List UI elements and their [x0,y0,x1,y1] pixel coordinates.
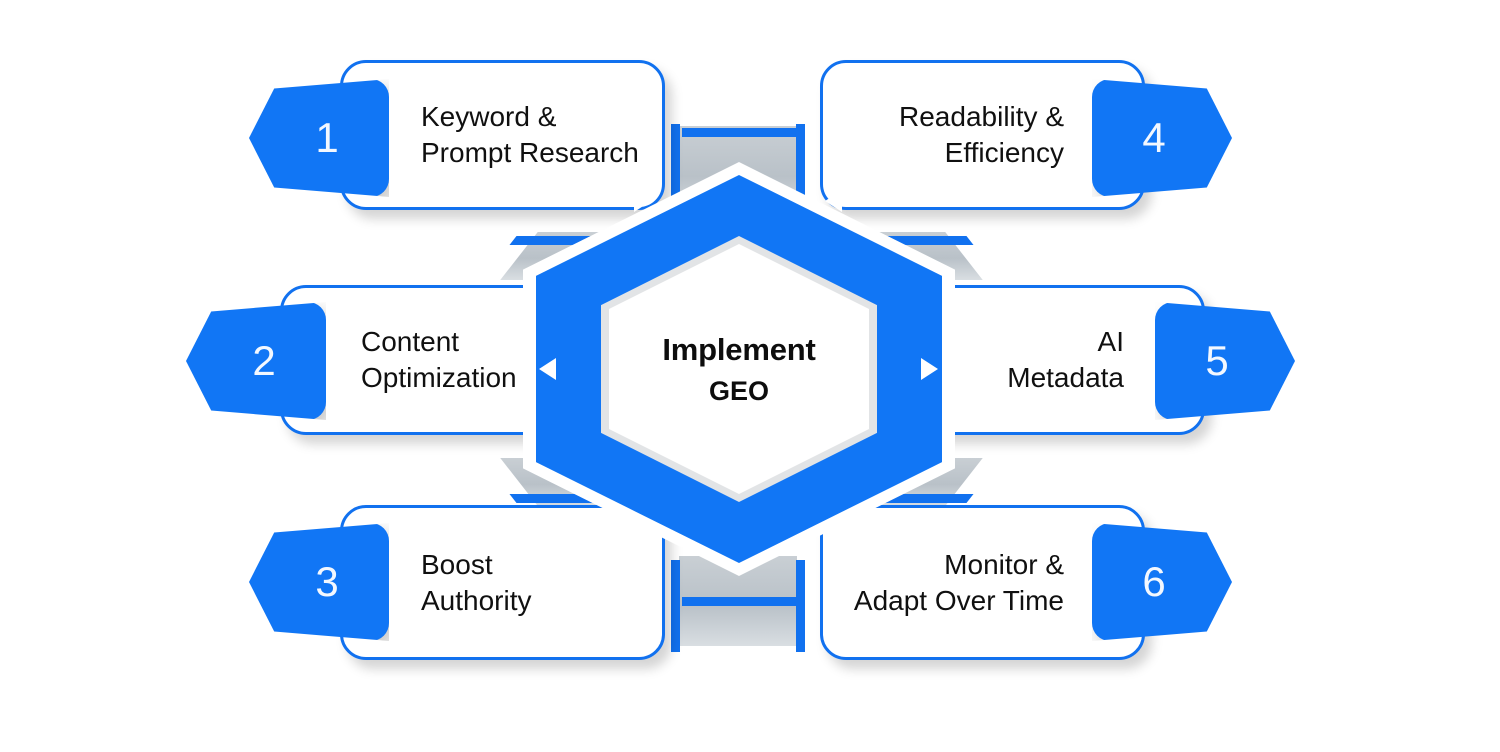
step-number-2: 2 [252,340,275,382]
center-title: Implement [662,332,815,368]
step-number-6: 6 [1142,561,1165,603]
step-label-4: Readability & Efficiency [899,99,1064,171]
step-badge-4[interactable]: 4 [1092,79,1232,197]
step-badge-5[interactable]: 5 [1155,302,1295,420]
hexagon-arrow-bottom-right-icon [825,514,842,536]
center-subtitle: GEO [709,376,769,407]
hexagon-arrow-top-right-icon [825,190,842,212]
step-number-3: 3 [315,561,338,603]
connector-bottom-bar-bottom [682,597,796,606]
hexagon-arrow-bottom-left-icon [634,514,651,536]
step-badge-6[interactable]: 6 [1092,523,1232,641]
hexagon-arrow-right-icon [921,358,938,380]
connector-top-bar-top [682,128,796,137]
step-label-2: Content Optimization [361,324,517,396]
step-number-5: 5 [1205,340,1228,382]
step-badge-3[interactable]: 3 [249,523,389,641]
step-badge-1[interactable]: 1 [249,79,389,197]
step-number-1: 1 [315,117,338,159]
step-label-3: Boost Authority [421,547,532,619]
hexagon-arrow-left-icon [539,358,556,380]
hexagon-arrow-top-left-icon [634,190,651,212]
diagram-canvas: Keyword & Prompt Research 1 Content Opti… [0,0,1500,752]
step-badge-2[interactable]: 2 [186,302,326,420]
step-label-1: Keyword & Prompt Research [421,99,639,171]
step-label-5: AI Metadata [1007,324,1124,396]
center-hexagon[interactable]: Implement GEO [523,162,955,576]
step-number-4: 4 [1142,117,1165,159]
